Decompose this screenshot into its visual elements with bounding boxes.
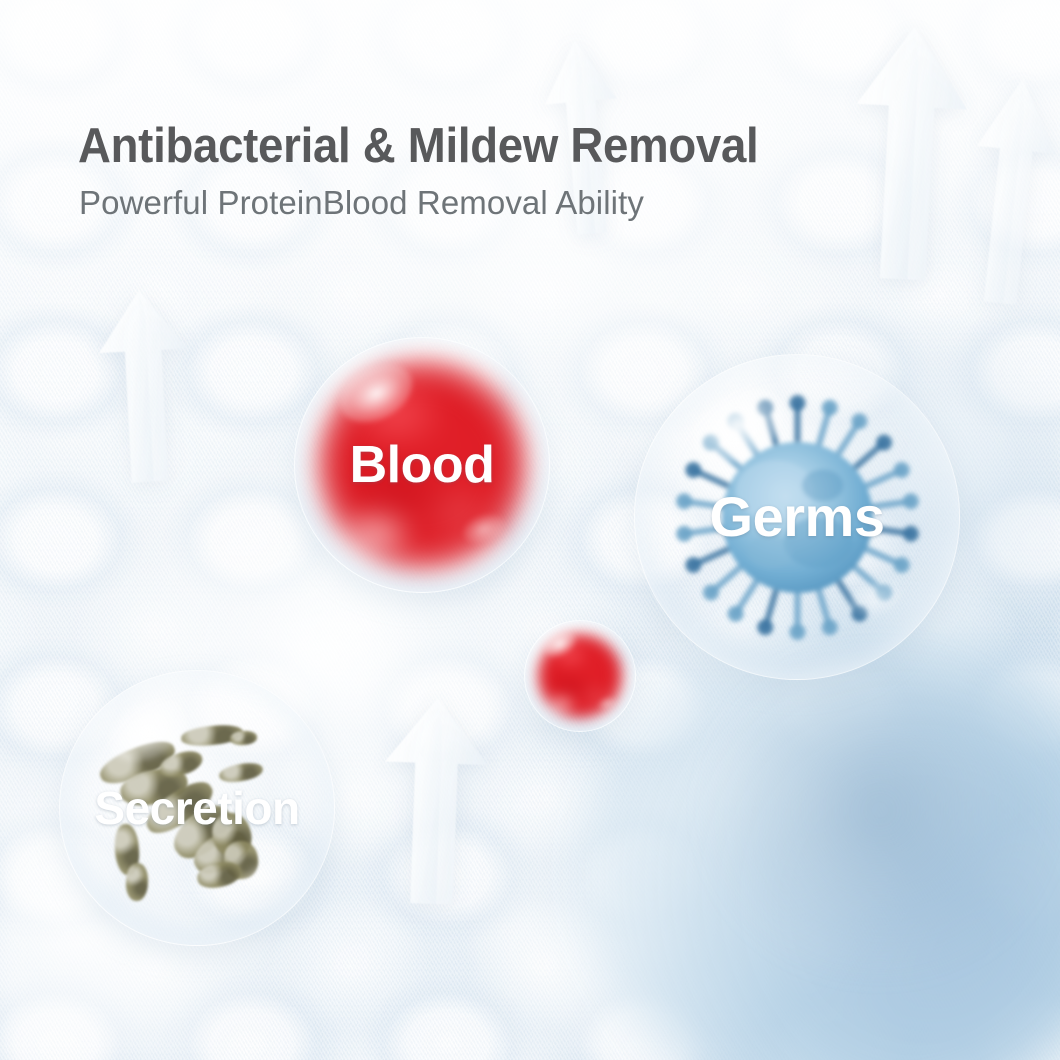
bubble-rim-highlight bbox=[524, 620, 636, 732]
product-feature-poster: Blood Germs bbox=[0, 0, 1060, 1060]
page-title: Antibacterial & Mildew Removal bbox=[78, 118, 758, 174]
bubble-germs: Germs bbox=[634, 354, 960, 680]
bubble-label-germs: Germs bbox=[710, 489, 885, 545]
bubble-secretion: Secretion bbox=[59, 670, 335, 946]
bubble-label-blood: Blood bbox=[350, 439, 495, 491]
background-blur-blue-core bbox=[730, 670, 1030, 950]
bubble-blood: Blood bbox=[294, 337, 550, 593]
bubble-blood-small bbox=[524, 620, 636, 732]
bubble-label-secretion: Secretion bbox=[94, 785, 299, 831]
page-subtitle: Powerful ProteinBlood Removal Ability bbox=[79, 184, 644, 222]
